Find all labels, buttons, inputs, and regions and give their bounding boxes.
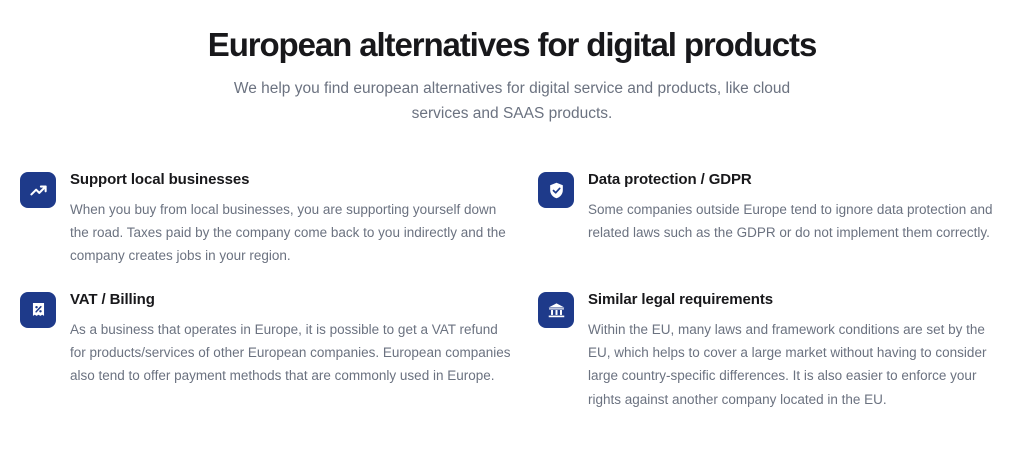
feature-description: Within the EU, many laws and framework c… [588, 318, 1002, 412]
page-subtitle: We help you find european alternatives f… [232, 76, 792, 126]
feature-card-similar-legal-requirements: Similar legal requirements Within the EU… [538, 290, 1024, 410]
feature-title: Support local businesses [70, 170, 516, 190]
feature-card-support-local-businesses: Support local businesses When you buy fr… [20, 170, 538, 290]
feature-body: Support local businesses When you buy fr… [70, 170, 516, 268]
shield-check-icon [538, 172, 574, 208]
feature-description: Some companies outside Europe tend to ig… [588, 198, 1002, 245]
page-title: European alternatives for digital produc… [0, 26, 1024, 64]
trending-up-icon [20, 172, 56, 208]
feature-title: Data protection / GDPR [588, 170, 1002, 190]
feature-body: VAT / Billing As a business that operate… [70, 290, 516, 388]
feature-title: Similar legal requirements [588, 290, 1002, 310]
feature-body: Data protection / GDPR Some companies ou… [588, 170, 1002, 244]
feature-card-vat-billing: VAT / Billing As a business that operate… [20, 290, 538, 410]
bank-building-icon [538, 292, 574, 328]
feature-card-data-protection-gdpr: Data protection / GDPR Some companies ou… [538, 170, 1024, 290]
page-root: European alternatives for digital produc… [0, 0, 1024, 453]
receipt-percent-icon [20, 292, 56, 328]
feature-description: When you buy from local businesses, you … [70, 198, 516, 268]
feature-title: VAT / Billing [70, 290, 516, 310]
hero-section: European alternatives for digital produc… [0, 0, 1024, 126]
feature-description: As a business that operates in Europe, i… [70, 318, 516, 388]
feature-grid: Support local businesses When you buy fr… [0, 170, 1024, 410]
feature-body: Similar legal requirements Within the EU… [588, 290, 1002, 411]
